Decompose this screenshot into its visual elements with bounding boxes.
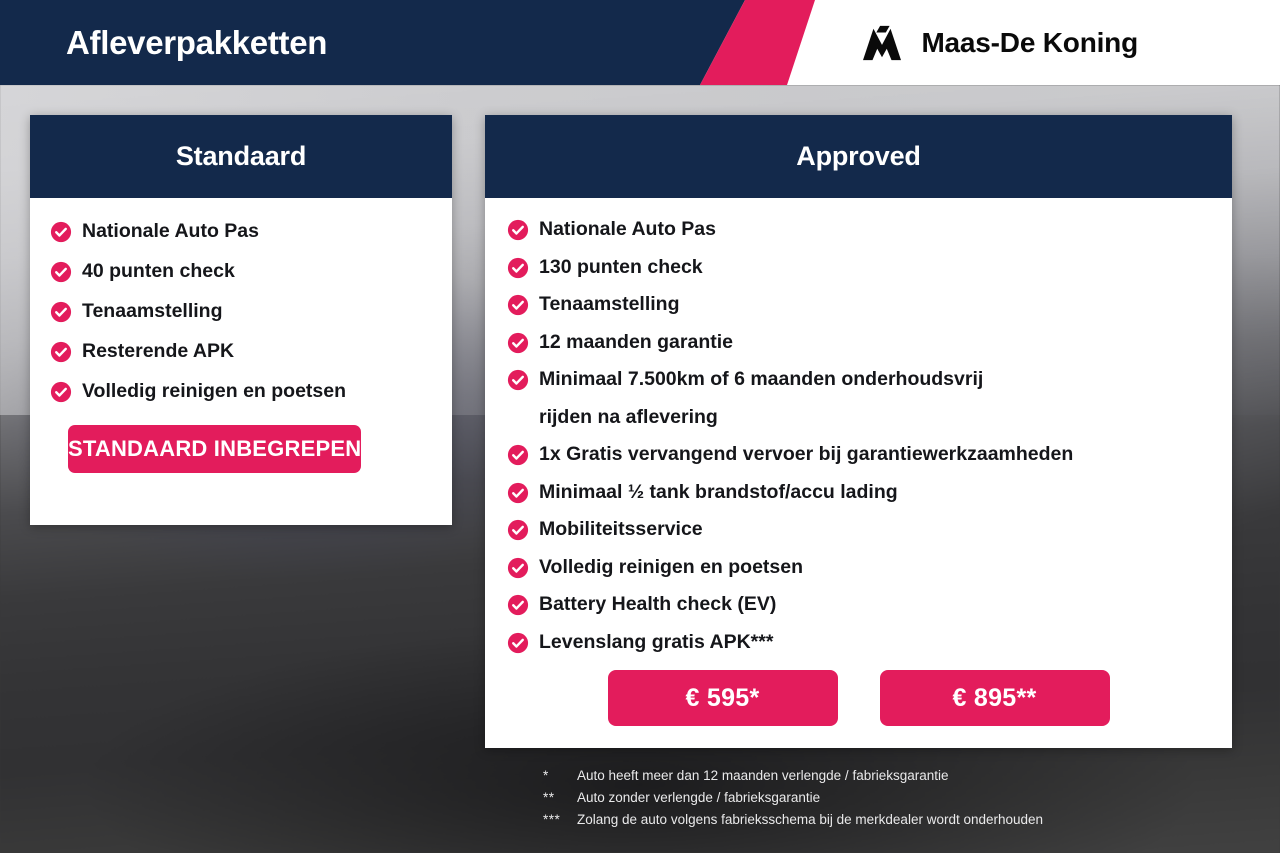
check-circle-icon xyxy=(50,262,72,283)
feature-list-standaard: Nationale Auto Pas 40 punten check Tenaa… xyxy=(50,222,432,403)
price-button-595[interactable]: € 595* xyxy=(608,670,838,726)
list-item: Minimaal ½ tank brandstof/accu lading xyxy=(507,483,1210,504)
price-button-row: € 595* € 895** xyxy=(507,670,1210,726)
package-card-approved: Approved Nationale Auto Pas 130 punten c… xyxy=(485,115,1232,748)
list-item: Tenaamstelling xyxy=(50,302,432,323)
list-item-continuation: rijden na aflevering xyxy=(507,408,1210,429)
card-title: Approved xyxy=(796,141,920,172)
footnote-1: * Auto heeft meer dan 12 maanden verleng… xyxy=(543,765,1243,787)
list-item: Resterende APK xyxy=(50,342,432,363)
check-circle-icon xyxy=(507,633,529,654)
feature-label: 40 punten check xyxy=(82,262,235,282)
page-header: Afleverpakketten Maas-De Koning xyxy=(0,0,1280,85)
feature-label: Volledig reinigen en poetsen xyxy=(539,558,803,578)
maas-de-koning-m-mark-icon xyxy=(857,24,907,62)
card-body-approved: Nationale Auto Pas 130 punten check Tena… xyxy=(485,198,1232,726)
check-circle-icon xyxy=(507,333,529,354)
list-item: 1x Gratis vervangend vervoer bij garanti… xyxy=(507,445,1210,466)
check-circle-icon xyxy=(507,445,529,466)
card-title: Standaard xyxy=(176,141,306,172)
footnote-marker: ** xyxy=(543,787,577,809)
standaard-inbegrepen-button[interactable]: STANDAARD INBEGREPEN xyxy=(68,425,361,473)
list-item: Mobiliteitsservice xyxy=(507,520,1210,541)
list-item: Nationale Auto Pas xyxy=(507,220,1210,241)
list-item: Battery Health check (EV) xyxy=(507,595,1210,616)
list-item: 130 punten check xyxy=(507,258,1210,279)
check-circle-icon xyxy=(50,222,72,243)
footnote-text: Auto zonder verlengde / fabrieksgarantie xyxy=(577,787,1243,809)
check-circle-icon xyxy=(507,295,529,316)
footnote-text: Auto heeft meer dan 12 maanden verlengde… xyxy=(577,765,1243,787)
package-card-standaard: Standaard Nationale Auto Pas 40 punten c… xyxy=(30,115,452,525)
feature-label: Tenaamstelling xyxy=(82,302,223,322)
check-circle-icon xyxy=(507,370,529,391)
feature-list-approved: Nationale Auto Pas 130 punten check Tena… xyxy=(507,220,1210,654)
brand-name: Maas-De Koning xyxy=(921,27,1138,59)
feature-label: Tenaamstelling xyxy=(539,295,680,315)
check-circle-icon xyxy=(507,483,529,504)
check-circle-icon xyxy=(50,382,72,403)
feature-label: 130 punten check xyxy=(539,258,703,278)
promo-page: Afleverpakketten Maas-De Koning Standaar… xyxy=(0,0,1280,853)
list-item: Volledig reinigen en poetsen xyxy=(507,558,1210,579)
list-item: 12 maanden garantie xyxy=(507,333,1210,354)
feature-label: Nationale Auto Pas xyxy=(539,220,716,240)
list-item: Volledig reinigen en poetsen xyxy=(50,382,432,403)
feature-label: Volledig reinigen en poetsen xyxy=(82,382,346,402)
card-body-standaard: Nationale Auto Pas 40 punten check Tenaa… xyxy=(30,198,452,473)
check-circle-icon xyxy=(507,220,529,241)
feature-label: Minimaal ½ tank brandstof/accu lading xyxy=(539,483,898,503)
feature-label: Battery Health check (EV) xyxy=(539,595,776,615)
card-header-standaard: Standaard xyxy=(30,115,452,198)
list-item: Nationale Auto Pas xyxy=(50,222,432,243)
footnote-2: ** Auto zonder verlengde / fabrieksgaran… xyxy=(543,787,1243,809)
list-item: Tenaamstelling xyxy=(507,295,1210,316)
page-title: Afleverpakketten xyxy=(66,0,327,85)
check-circle-icon xyxy=(507,595,529,616)
footnote-marker: * xyxy=(543,765,577,787)
footnote-text: Zolang de auto volgens fabrieksschema bi… xyxy=(577,809,1243,831)
feature-label: Resterende APK xyxy=(82,342,234,362)
feature-label: 1x Gratis vervangend vervoer bij garanti… xyxy=(539,445,1073,465)
card-header-approved: Approved xyxy=(485,115,1232,198)
feature-label: Levenslang gratis APK*** xyxy=(539,633,773,653)
feature-label: rijden na aflevering xyxy=(539,408,718,428)
footnote-marker: *** xyxy=(543,809,577,831)
check-circle-icon xyxy=(507,520,529,541)
feature-label: 12 maanden garantie xyxy=(539,333,733,353)
check-circle-icon xyxy=(507,558,529,579)
feature-label: Minimaal 7.500km of 6 maanden onderhouds… xyxy=(539,370,983,390)
feature-label: Nationale Auto Pas xyxy=(82,222,259,242)
list-item: Minimaal 7.500km of 6 maanden onderhouds… xyxy=(507,370,1210,391)
footnote-3: *** Zolang de auto volgens fabrieksschem… xyxy=(543,809,1243,831)
brand-logo: Maas-De Koning xyxy=(857,0,1138,85)
check-circle-icon xyxy=(50,342,72,363)
check-circle-icon xyxy=(507,258,529,279)
list-item: Levenslang gratis APK*** xyxy=(507,633,1210,654)
list-item: 40 punten check xyxy=(50,262,432,283)
price-button-895[interactable]: € 895** xyxy=(880,670,1110,726)
feature-label: Mobiliteitsservice xyxy=(539,520,703,540)
check-circle-icon xyxy=(50,302,72,323)
footnotes: * Auto heeft meer dan 12 maanden verleng… xyxy=(543,765,1243,831)
